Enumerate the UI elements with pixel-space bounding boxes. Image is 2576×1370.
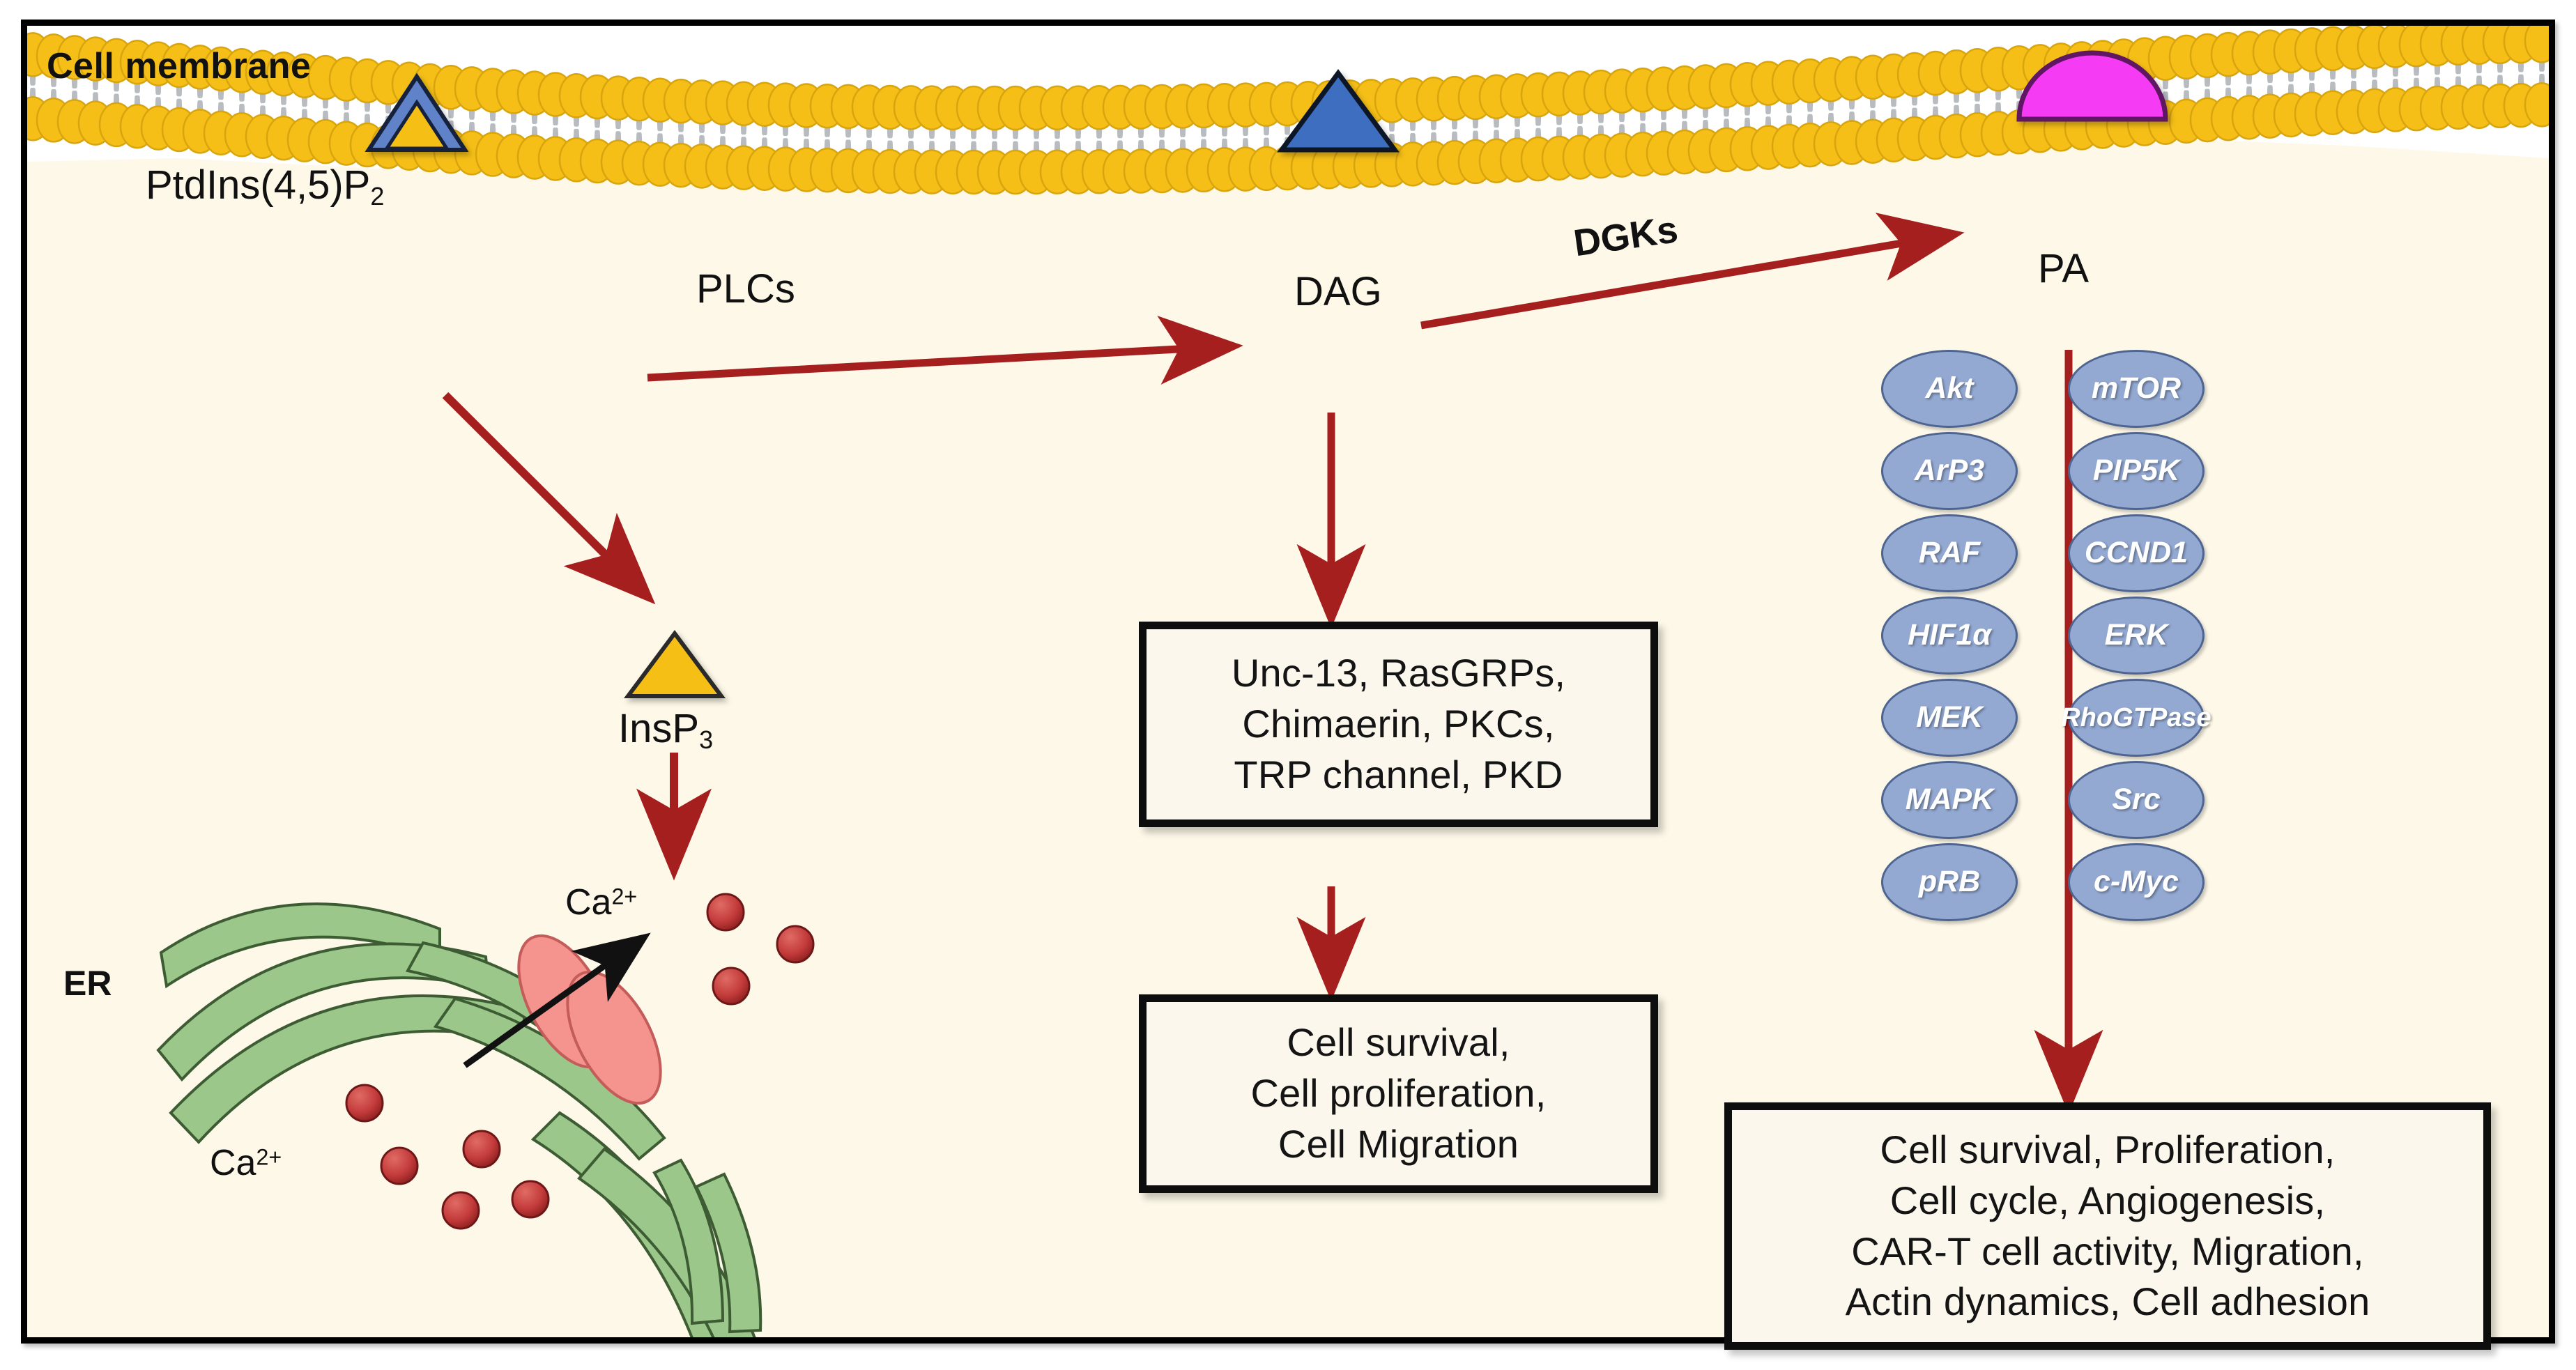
pa-target-oval-line: c-Myc — [2094, 867, 2179, 898]
insp3-label: InsP3 — [618, 705, 713, 755]
dag-effectors-line-2: Chimaerin, PKCs, — [1232, 699, 1565, 750]
pa-target-oval-line: RAF — [1919, 538, 1980, 569]
pa-target-oval[interactable]: c-Myc — [2068, 843, 2205, 921]
pa-outcomes-box: Cell survival, Proliferation, Cell cycle… — [1724, 1102, 2491, 1350]
pa-target-oval[interactable]: ERK — [2068, 597, 2205, 675]
diagram-canvas: Cell membrane PtdIns(4,5)P2 PLCs DAG DGK… — [0, 0, 2576, 1370]
insp3-label-main: InsP — [618, 706, 699, 751]
cell-membrane-label: Cell membrane — [47, 45, 311, 87]
calcium-er-label: Ca2+ — [210, 1142, 282, 1184]
calcium-er-sup: 2+ — [256, 1145, 282, 1170]
diagram-frame: Cell membrane PtdIns(4,5)P2 PLCs DAG DGK… — [21, 20, 2555, 1344]
pa-outcomes-line-2: Cell cycle, Angiogenesis, — [1846, 1176, 2370, 1226]
pa-target-oval-line: Rho — [2061, 705, 2113, 732]
dgks-arrow — [1421, 235, 1951, 325]
pa-target-oval-line: CCND1 — [2085, 538, 2188, 569]
pa-target-oval[interactable]: MAPK — [1881, 761, 2018, 839]
pa-targets-left-column: AktArP3RAFHIF1αMEKMAPKpRB — [1881, 350, 2018, 925]
calcium-cytosol-main: Ca — [565, 882, 611, 923]
dag-outcomes-box: Cell survival, Cell proliferation, Cell … — [1139, 994, 1658, 1193]
dag-effectors-box: Unc-13, RasGRPs, Chimaerin, PKCs, TRP ch… — [1139, 622, 1658, 827]
pa-target-oval-line: HIF1α — [1908, 620, 1991, 651]
pa-target-oval[interactable]: RhoGTPase — [2068, 679, 2205, 757]
pa-target-oval-line: pRB — [1919, 867, 1980, 898]
insp3-label-sub: 3 — [699, 725, 713, 754]
ptdins45p2-label-sub: 2 — [370, 182, 384, 210]
dag-outcomes-line-1: Cell survival, — [1251, 1017, 1547, 1068]
pa-target-oval[interactable]: CCND1 — [2068, 514, 2205, 592]
dag-outcomes-line-3: Cell Migration — [1251, 1119, 1547, 1170]
insp3-icon — [628, 633, 721, 696]
pa-outcomes-line-3: CAR-T cell activity, Migration, — [1846, 1226, 2370, 1277]
calcium-er-main: Ca — [210, 1143, 256, 1183]
dag-label: DAG — [1294, 268, 1382, 315]
dag-icon — [1282, 73, 1395, 150]
pa-targets-right-column: mTORPIP5KCCND1ERKRhoGTPaseSrcc-Myc — [2068, 350, 2205, 925]
pa-target-oval[interactable]: PIP5K — [2068, 432, 2205, 510]
ptdins45p2-label: PtdIns(4,5)P2 — [146, 162, 384, 211]
dag-effectors-line-1: Unc-13, RasGRPs, — [1232, 648, 1565, 699]
pa-target-oval[interactable]: pRB — [1881, 843, 2018, 921]
pa-target-oval-line: mTOR — [2092, 374, 2181, 404]
pa-outcomes-line-4: Actin dynamics, Cell adhesion — [1846, 1277, 2370, 1327]
er-label: ER — [63, 963, 112, 1003]
pa-target-oval-line: ERK — [2105, 620, 2168, 651]
dag-effectors-line-3: TRP channel, PKD — [1232, 750, 1565, 801]
ptdins45p2-icon — [369, 26, 465, 150]
pa-target-oval[interactable]: Akt — [1881, 350, 2018, 428]
pa-target-oval[interactable]: mTOR — [2068, 350, 2205, 428]
pa-target-oval-line: Src — [2112, 785, 2160, 815]
pa-target-oval-line: MEK — [1916, 702, 1983, 733]
ptdins45p2-label-main: PtdIns(4,5)P — [146, 162, 370, 208]
endoplasmic-reticulum — [158, 904, 776, 1337]
pa-target-oval-line: MAPK — [1906, 785, 1994, 815]
pa-icon — [2019, 53, 2165, 119]
pa-target-oval[interactable]: RAF — [1881, 514, 2018, 592]
pa-target-oval-line: GTPase — [2113, 705, 2211, 732]
calcium-cytosol-label: Ca2+ — [565, 882, 637, 923]
pa-target-oval[interactable]: ArP3 — [1881, 432, 2018, 510]
pa-target-oval[interactable]: Src — [2068, 761, 2205, 839]
pa-target-oval-line: Akt — [1925, 374, 1973, 404]
calcium-cytosol-sup: 2+ — [611, 884, 637, 909]
dag-outcomes-line-2: Cell proliferation, — [1251, 1068, 1547, 1119]
pa-label: PA — [2038, 245, 2089, 292]
pa-target-oval[interactable]: HIF1α — [1881, 597, 2018, 675]
plcs-arrow — [647, 346, 1229, 378]
pa-target-oval-line: PIP5K — [2093, 456, 2179, 486]
pa-target-oval-line: ArP3 — [1915, 456, 1984, 486]
pa-target-oval[interactable]: MEK — [1881, 679, 2018, 757]
plcs-label: PLCs — [696, 265, 795, 312]
ptdins-to-insp3-arrow — [445, 395, 645, 594]
pa-outcomes-line-1: Cell survival, Proliferation, — [1846, 1125, 2370, 1176]
